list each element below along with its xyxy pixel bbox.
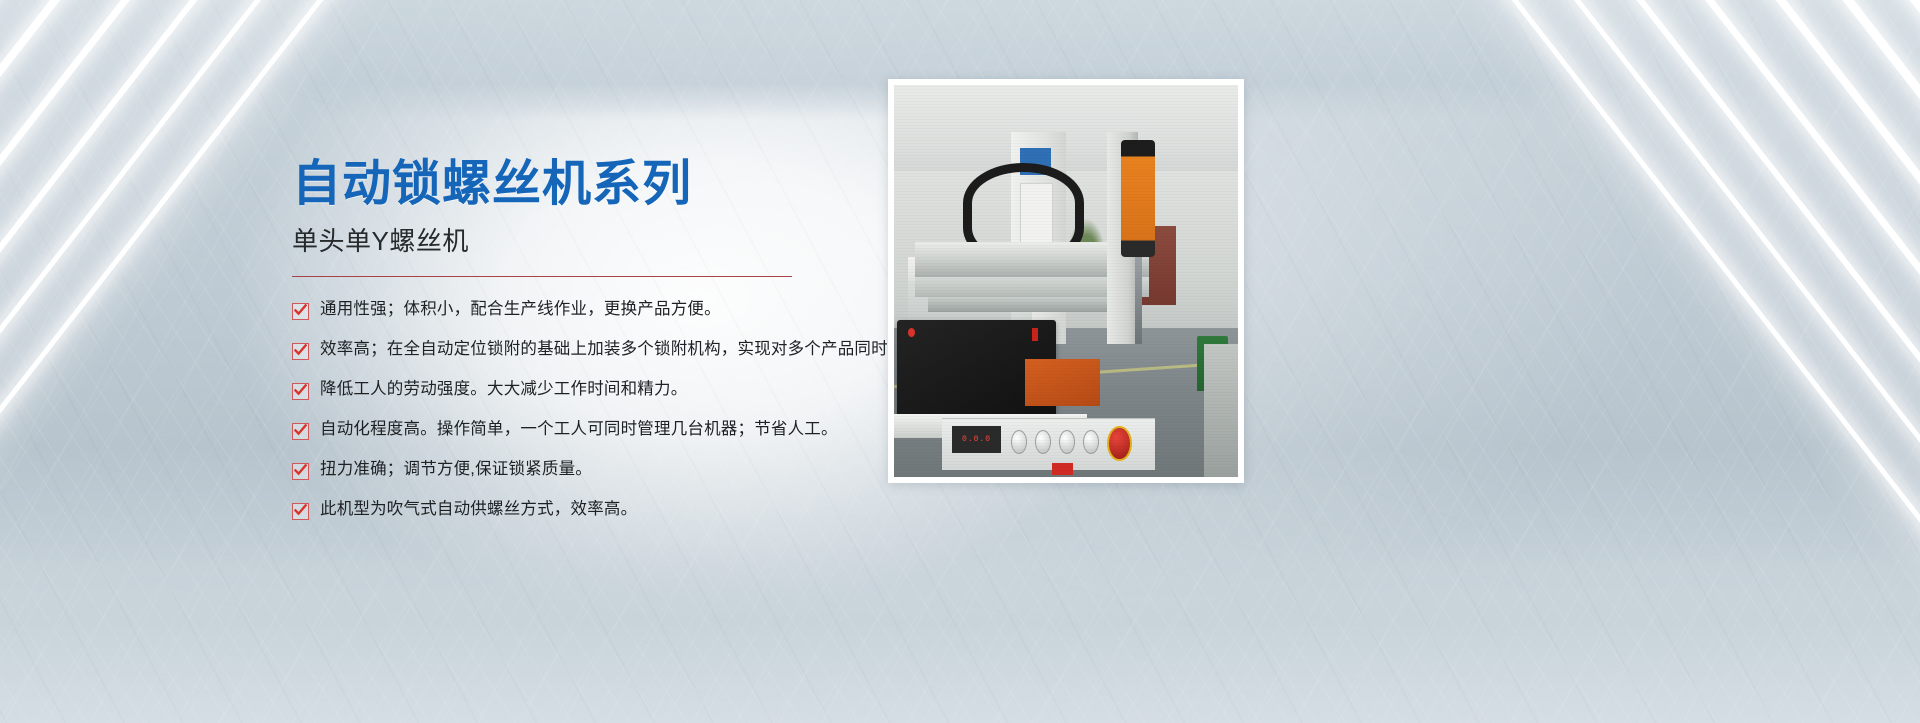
product-photo-frame: 0.0.0 bbox=[888, 79, 1244, 483]
page-subtitle: 单头单Y螺丝机 bbox=[292, 226, 892, 257]
product-photo: 0.0.0 bbox=[894, 85, 1238, 477]
feature-text: 效率高；在全自动定位锁附的基础上加装多个锁附机构，实现对多个产品同时锁附。 bbox=[320, 339, 938, 360]
feature-text: 扭力准确；调节方便,保证锁紧质量。 bbox=[320, 459, 592, 480]
feature-text: 降低工人的劳动强度。大大减少工作时间和精力。 bbox=[320, 379, 687, 400]
photo-grain-overlay bbox=[894, 85, 1238, 477]
feature-text: 此机型为吹气式自动供螺丝方式，效率高。 bbox=[320, 499, 637, 520]
check-icon bbox=[292, 423, 309, 440]
check-icon bbox=[292, 303, 309, 320]
list-item: 效率高；在全自动定位锁附的基础上加装多个锁附机构，实现对多个产品同时锁附。 bbox=[292, 339, 892, 360]
list-item: 扭力准确；调节方便,保证锁紧质量。 bbox=[292, 459, 892, 480]
list-item: 降低工人的劳动强度。大大减少工作时间和精力。 bbox=[292, 379, 892, 400]
check-icon bbox=[292, 463, 309, 480]
check-icon bbox=[292, 503, 309, 520]
list-item: 自动化程度高。操作简单，一个工人可同时管理几台机器；节省人工。 bbox=[292, 419, 892, 440]
feature-list: 通用性强；体积小，配合生产线作业，更换产品方便。 效率高；在全自动定位锁附的基础… bbox=[292, 299, 892, 520]
check-icon bbox=[292, 383, 309, 400]
feature-text: 通用性强；体积小，配合生产线作业，更换产品方便。 bbox=[320, 299, 721, 320]
page-title: 自动锁螺丝机系列 bbox=[292, 158, 892, 212]
list-item: 此机型为吹气式自动供螺丝方式，效率高。 bbox=[292, 499, 892, 520]
banner-content: 自动锁螺丝机系列 单头单Y螺丝机 通用性强；体积小，配合生产线作业，更换产品方便… bbox=[292, 158, 892, 539]
list-item: 通用性强；体积小，配合生产线作业，更换产品方便。 bbox=[292, 299, 892, 320]
divider bbox=[292, 276, 792, 277]
feature-text: 自动化程度高。操作简单，一个工人可同时管理几台机器；节省人工。 bbox=[320, 419, 838, 440]
check-icon bbox=[292, 343, 309, 360]
product-banner: 自动锁螺丝机系列 单头单Y螺丝机 通用性强；体积小，配合生产线作业，更换产品方便… bbox=[0, 0, 1920, 723]
